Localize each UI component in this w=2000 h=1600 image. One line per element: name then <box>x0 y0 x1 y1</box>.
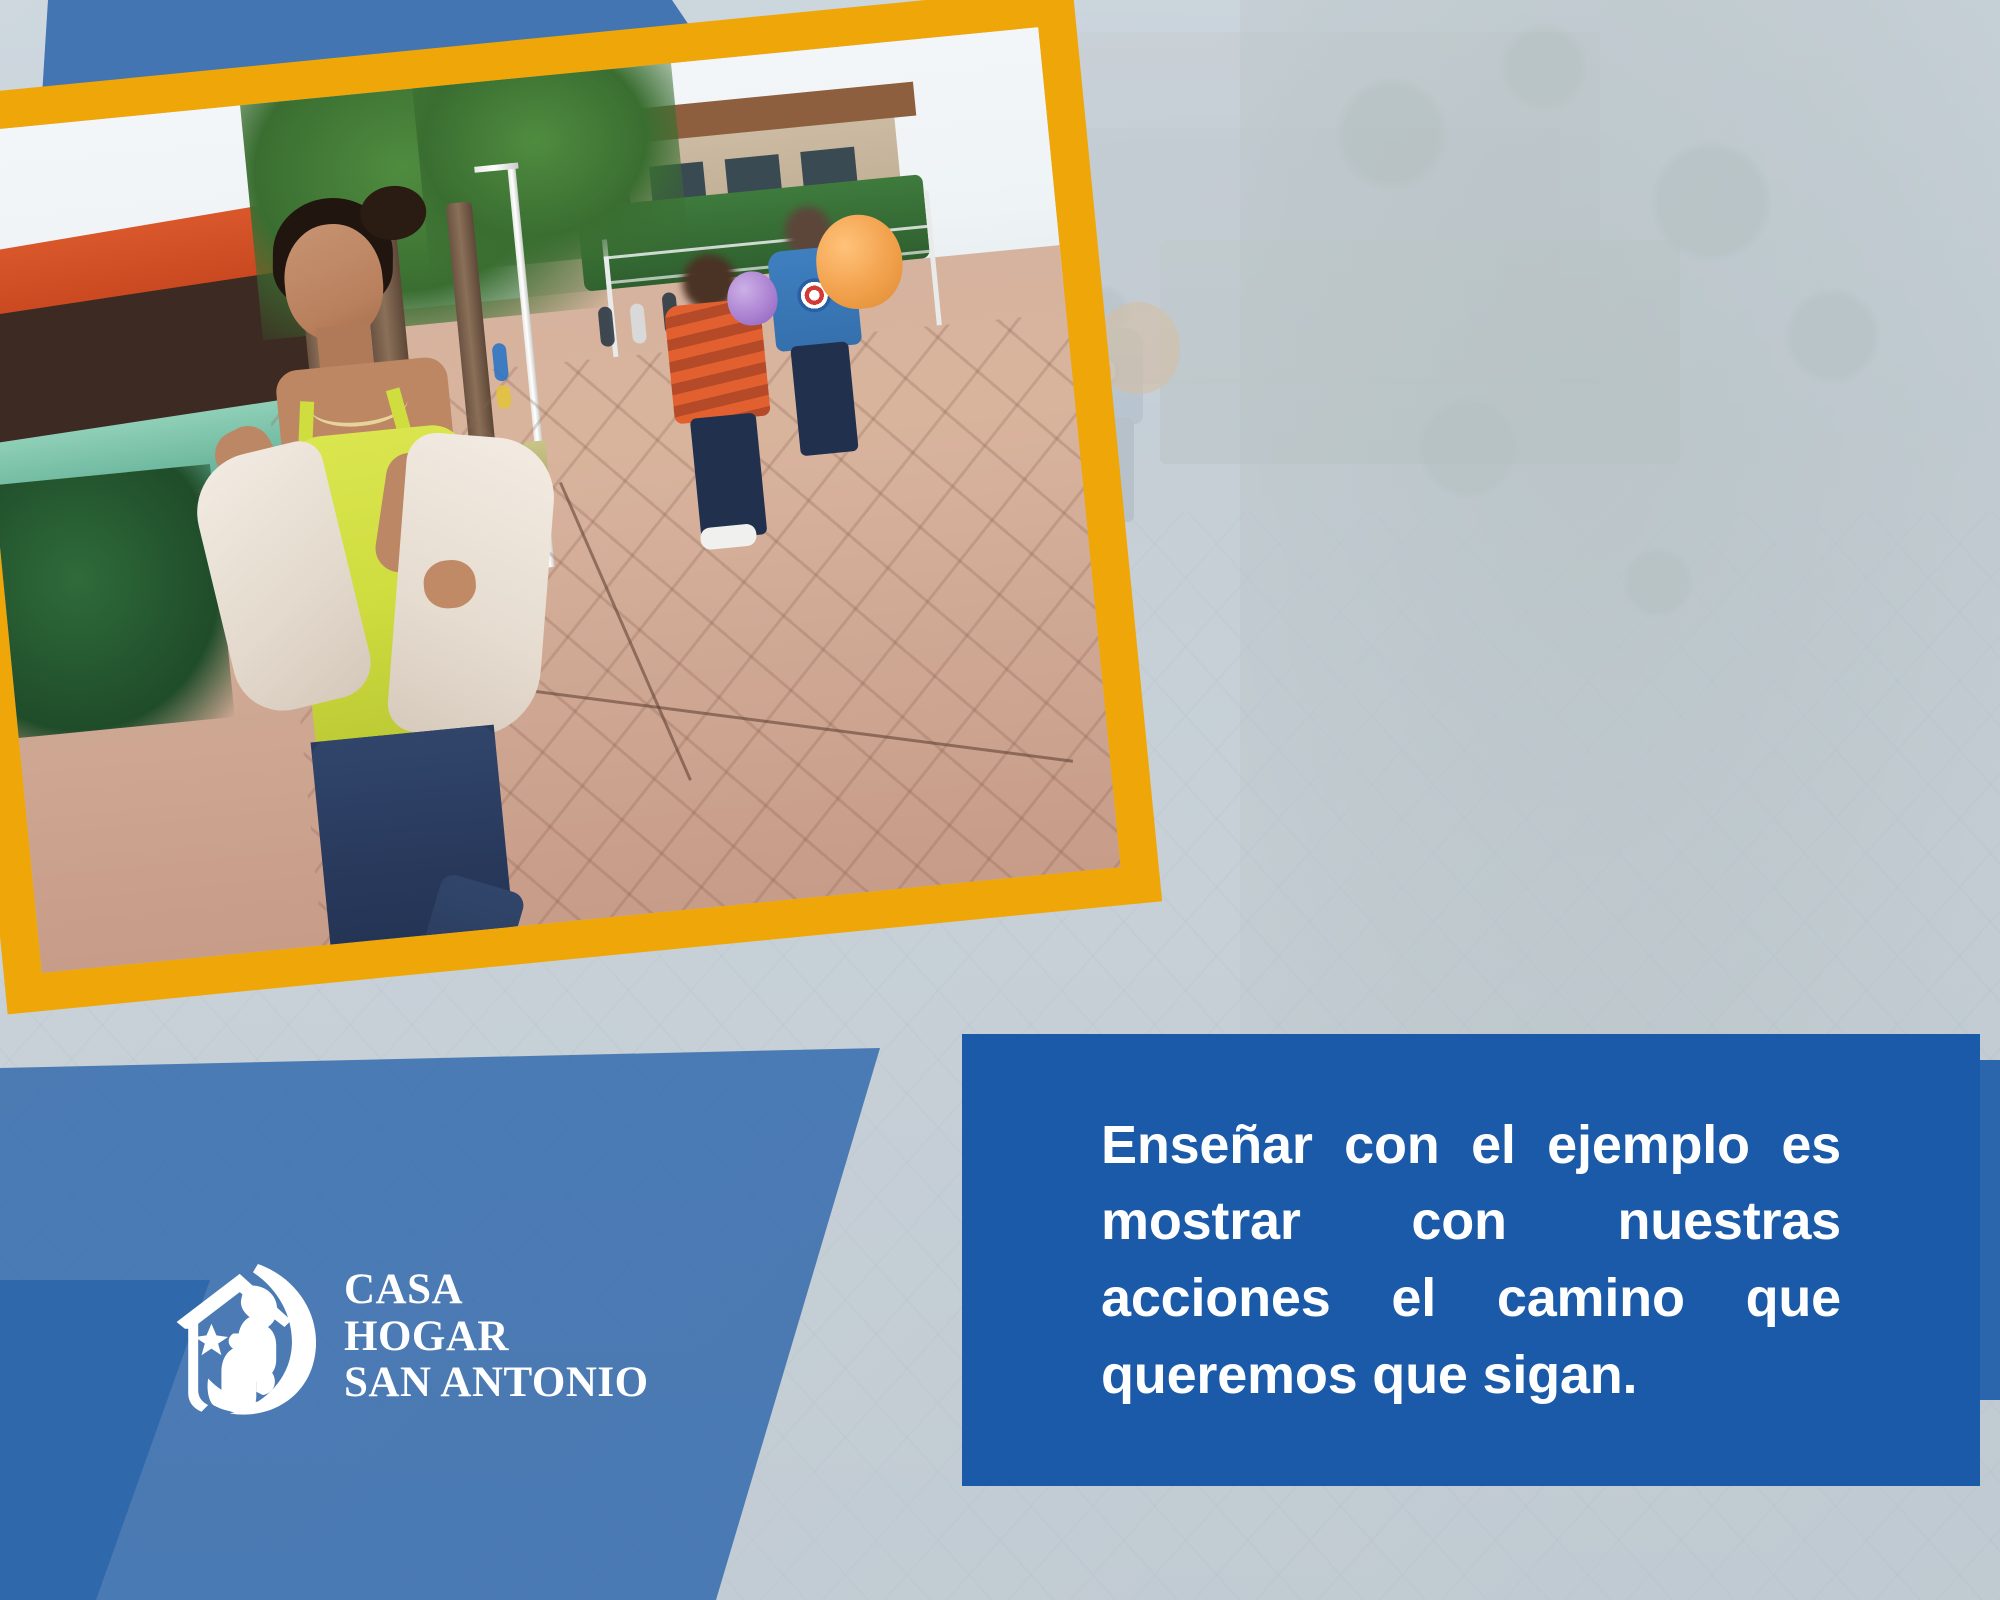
quote-card: Enseñar con el ejemplo es mostrar con nu… <box>962 1034 1980 1486</box>
logo-line-2: HOGAR <box>344 1314 649 1360</box>
photo-woman-running <box>77 179 604 973</box>
photo-child-pants <box>791 341 859 456</box>
logo-line-3: SAN ANTONIO <box>344 1360 649 1406</box>
quote-text: Enseñar con el ejemplo es mostrar con nu… <box>1101 1107 1841 1414</box>
organization-logo: CASA HOGAR SAN ANTONIO <box>160 1252 649 1422</box>
logo-wordmark: CASA HOGAR SAN ANTONIO <box>344 1267 649 1406</box>
photo-woman-jeans <box>311 725 526 973</box>
photo-child-pants <box>690 413 768 541</box>
logo-line-1: CASA <box>344 1267 649 1313</box>
house-moon-star-mother-child-logo <box>160 1252 326 1422</box>
poster-canvas: CASA HOGAR SAN ANTONIO Enseñar con el ej… <box>0 0 2000 1600</box>
featured-photo <box>0 27 1121 973</box>
featured-photo-frame <box>0 0 1162 1014</box>
